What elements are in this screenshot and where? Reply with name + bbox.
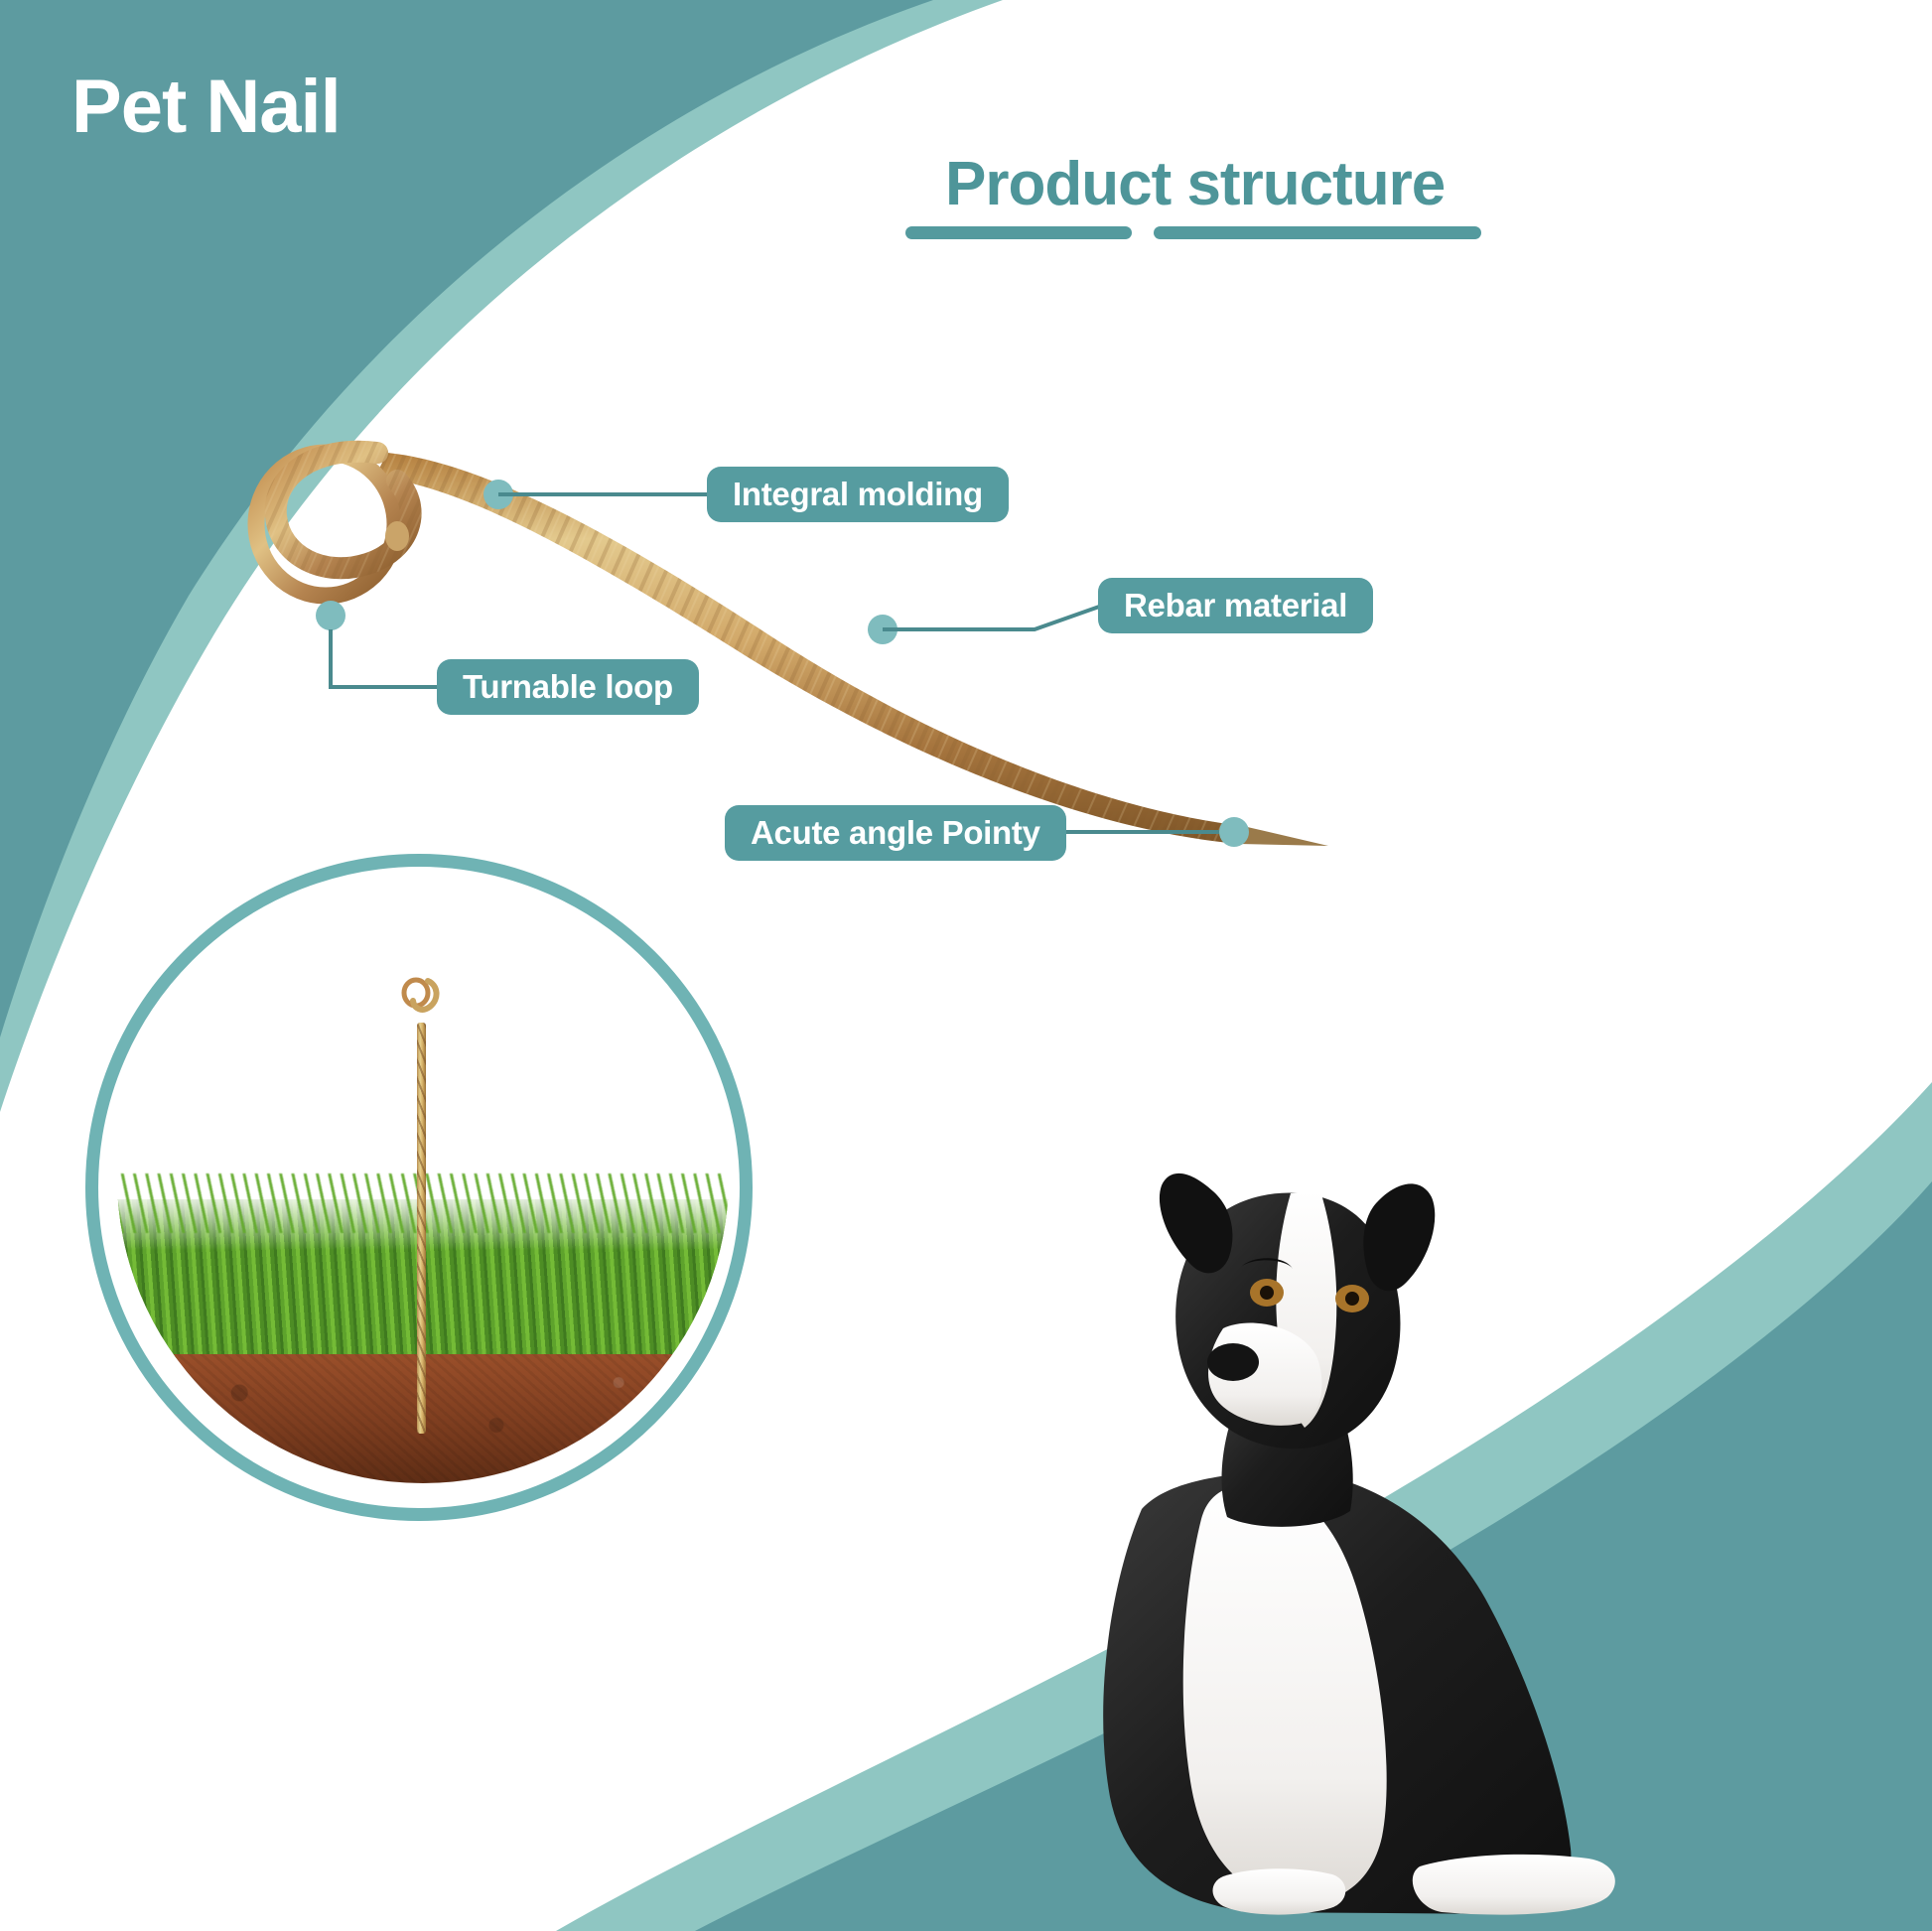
infographic-canvas: Pet Nail Product structure bbox=[0, 0, 1932, 1931]
leader-line-turnable-loop bbox=[331, 629, 441, 687]
inset-photo-stake-in-ground bbox=[85, 854, 753, 1521]
dog-nose bbox=[1207, 1343, 1259, 1381]
inset-stake-shaft bbox=[417, 1023, 426, 1434]
callout-label-integral-molding: Integral molding bbox=[733, 476, 983, 513]
border-collie-illustration bbox=[993, 1082, 1628, 1931]
callout-label-acute-angle-pointy: Acute angle Pointy bbox=[751, 814, 1040, 852]
dog-left-pupil bbox=[1260, 1286, 1274, 1300]
leader-line-rebar-material bbox=[883, 606, 1102, 629]
leader-dot-acute-angle-pointy bbox=[1219, 817, 1249, 847]
dog-right-ear bbox=[1363, 1183, 1435, 1291]
callout-label-rebar-material: Rebar material bbox=[1124, 587, 1347, 624]
callout-rebar-material: Rebar material bbox=[1098, 578, 1373, 633]
inset-stake-graphic bbox=[412, 967, 430, 1434]
inset-stake-loop bbox=[400, 967, 444, 1031]
leader-dot-turnable-loop bbox=[316, 601, 345, 630]
dog-photo-border-collie bbox=[993, 1082, 1628, 1931]
dog-rear-paw bbox=[1413, 1855, 1615, 1915]
dog-front-paw bbox=[1213, 1868, 1346, 1914]
callout-acute-angle-pointy: Acute angle Pointy bbox=[725, 805, 1066, 861]
callout-label-turnable-loop: Turnable loop bbox=[463, 668, 673, 706]
dog-left-ear bbox=[1160, 1173, 1233, 1273]
dog-right-pupil bbox=[1345, 1292, 1359, 1306]
callout-integral-molding: Integral molding bbox=[707, 467, 1009, 522]
inset-photo-content bbox=[117, 872, 729, 1483]
callout-turnable-loop: Turnable loop bbox=[437, 659, 699, 715]
